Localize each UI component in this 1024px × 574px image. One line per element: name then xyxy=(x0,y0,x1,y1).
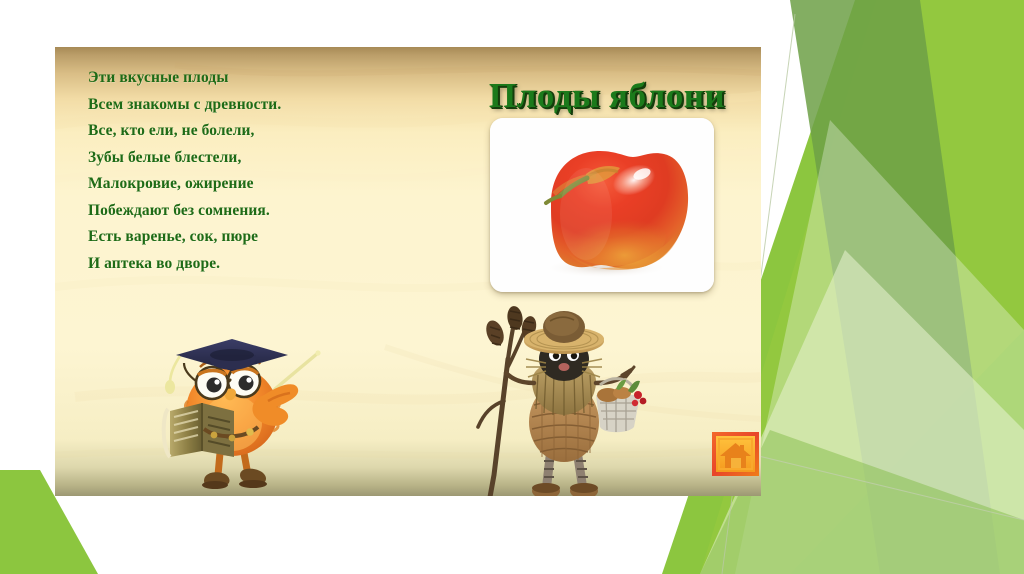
poem-line: Всем знакомы с древности. xyxy=(88,92,388,119)
pinecone-man-illustration xyxy=(450,297,665,496)
poem-line: Побеждают без сомнения. xyxy=(88,198,388,225)
facet-hairline-2 xyxy=(742,452,1024,520)
apple-photo-card xyxy=(490,118,714,292)
poem-line: Эти вкусные плоды xyxy=(88,65,388,92)
owl-professor-illustration xyxy=(140,325,330,496)
home-button[interactable] xyxy=(710,430,761,478)
poem-line: Все, кто ели, не болели, xyxy=(88,118,388,145)
poem-line: Есть варенье, сок, пюре xyxy=(88,224,388,251)
apple-photo-image xyxy=(490,118,714,292)
basket-with-mushrooms xyxy=(596,379,646,433)
slide-title: Плоды яблони xyxy=(447,75,761,117)
home-icon xyxy=(710,430,761,478)
presentation-slide: Эти вкусные плоды Всем знакомы с древнос… xyxy=(0,0,1024,574)
poem-line: Зубы белые блестели, xyxy=(88,145,388,172)
facet-shape-pale-overlay xyxy=(735,120,1024,574)
content-panel: Эти вкусные плоды Всем знакомы с древнос… xyxy=(55,47,761,496)
poem-line: И аптека во дворе. xyxy=(88,251,388,278)
facet-shape-olive-wedge xyxy=(790,0,1000,574)
poem-text-block: Эти вкусные плоды Всем знакомы с древнос… xyxy=(88,65,388,277)
poem-line: Малокровие, ожирение xyxy=(88,171,388,198)
